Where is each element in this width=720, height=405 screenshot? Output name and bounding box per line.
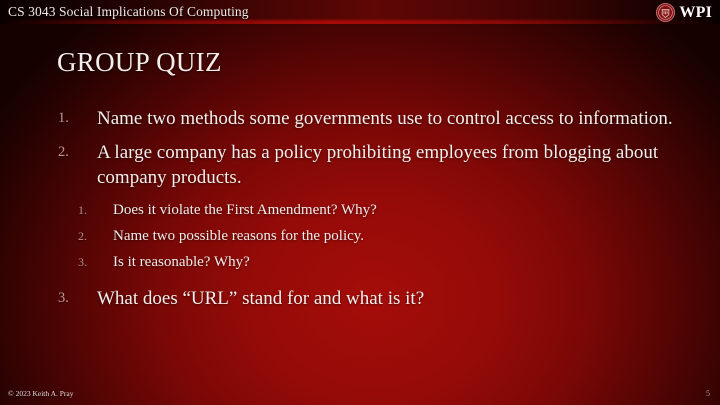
sub-list-item-number: 2. bbox=[78, 225, 104, 248]
list-item-number: 3. bbox=[58, 286, 86, 311]
list-item: 1. Name two methods some governments use… bbox=[0, 106, 700, 131]
sub-list-item: 1. Does it violate the First Amendment? … bbox=[0, 199, 700, 222]
sub-list-item: 2. Name two possible reasons for the pol… bbox=[0, 225, 700, 248]
list-item-text: What does “URL” stand for and what is it… bbox=[97, 288, 424, 309]
list-item-text: Name two methods some governments use to… bbox=[97, 108, 673, 129]
sub-list: 1. Does it violate the First Amendment? … bbox=[0, 199, 700, 274]
list-item: 3. What does “URL” stand for and what is… bbox=[0, 286, 700, 311]
sub-list-item-text: Is it reasonable? Why? bbox=[113, 254, 250, 270]
wpi-seal-icon bbox=[656, 3, 675, 22]
sub-list-item: 3. Is it reasonable? Why? bbox=[0, 251, 700, 274]
copyright-notice: © 2023 Keith A. Pray bbox=[8, 389, 74, 399]
presentation-slide: CS 3043 Social Implications Of Computing… bbox=[0, 0, 720, 405]
page-number: 5 bbox=[706, 389, 710, 399]
sub-list-item-text: Name two possible reasons for the policy… bbox=[113, 228, 364, 244]
page-title: GROUP QUIZ bbox=[57, 46, 222, 78]
sub-list-item-number: 3. bbox=[78, 251, 104, 274]
sub-list-item-number: 1. bbox=[78, 199, 104, 222]
list-item: 2. A large company has a policy prohibit… bbox=[0, 140, 700, 190]
slide-body-list: 1. Name two methods some governments use… bbox=[0, 106, 700, 320]
list-item-number: 1. bbox=[58, 106, 86, 131]
wpi-wordmark: WPI bbox=[679, 3, 712, 22]
list-item-text: A large company has a policy prohibiting… bbox=[97, 142, 658, 188]
wpi-logo: WPI bbox=[656, 2, 712, 22]
sub-list-item-text: Does it violate the First Amendment? Why… bbox=[113, 202, 377, 218]
list-item-number: 2. bbox=[58, 140, 86, 165]
course-title: CS 3043 Social Implications Of Computing bbox=[8, 3, 249, 21]
